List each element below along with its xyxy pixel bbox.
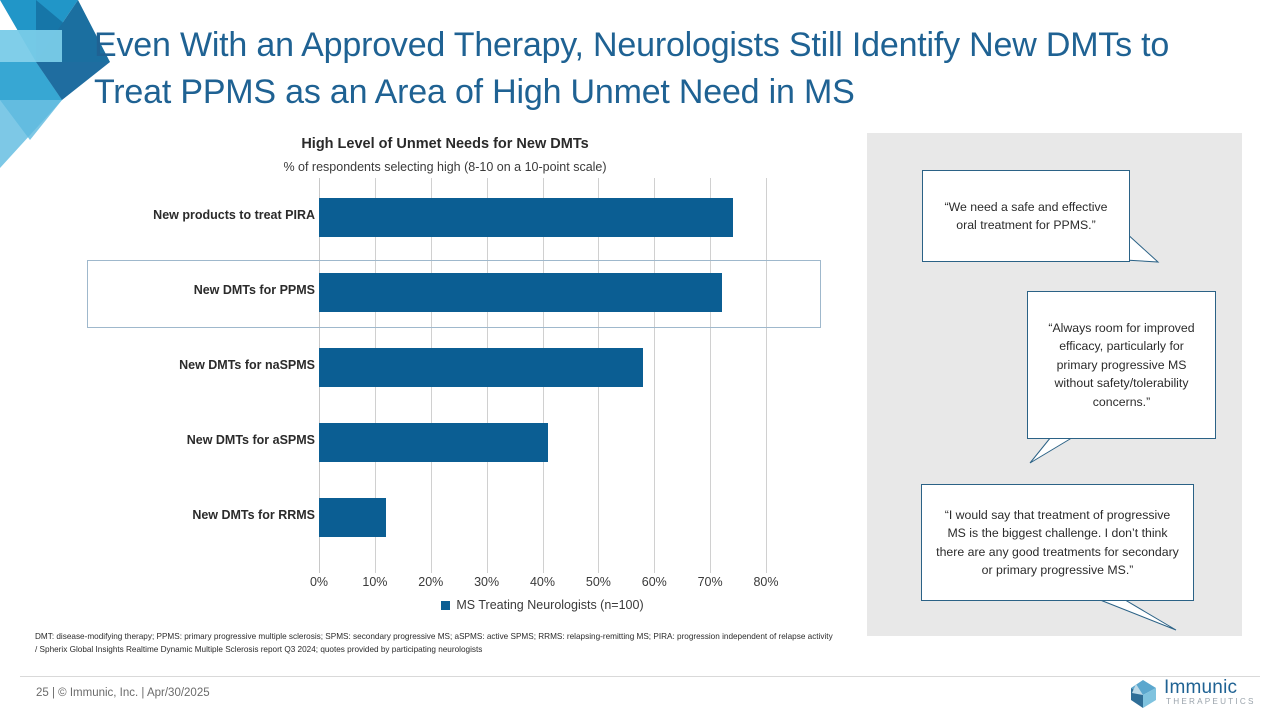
bar-row: New DMTs for RRMS (319, 478, 766, 557)
xtick-label: 40% (530, 575, 555, 589)
xtick-label: 0% (310, 575, 328, 589)
bar-pira[interactable] (319, 198, 733, 237)
quote-callout-2: “Always room for improved efficacy, part… (1027, 291, 1216, 439)
gridline-80 (766, 178, 767, 573)
logo-wordmark: Immunic (1164, 677, 1237, 699)
quote-text: “We need a safe and effective oral treat… (923, 171, 1129, 261)
highlight-box-ppms (87, 260, 821, 328)
quote-callout-1: “We need a safe and effective oral treat… (922, 170, 1130, 262)
x-axis-ticks: 0% 10% 20% 30% 40% 50% 60% 70% 80% (319, 575, 766, 595)
legend-label: MS Treating Neurologists (n=100) (456, 598, 643, 612)
bar-rrms[interactable] (319, 498, 386, 537)
logo-tagline: THERAPEUTICS (1166, 697, 1256, 706)
slide: Even With an Approved Therapy, Neurologi… (0, 0, 1280, 720)
bar-chart: High Level of Unmet Needs for New DMTs %… (30, 128, 860, 618)
xtick-label: 50% (586, 575, 611, 589)
category-label: New DMTs for RRMS (75, 508, 315, 522)
immunic-logo-icon (1128, 679, 1158, 709)
footnote: DMT: disease-modifying therapy; PPMS: pr… (35, 630, 835, 656)
immunic-logo: Immunic THERAPEUTICS (1128, 679, 1253, 711)
bar-row: New products to treat PIRA (319, 178, 766, 257)
xtick-label: 20% (418, 575, 443, 589)
chart-plot-area: New products to treat PIRA New DMTs for … (319, 178, 766, 573)
xtick-label: 70% (698, 575, 723, 589)
bar-row: New DMTs for naSPMS (319, 328, 766, 407)
xtick-label: 10% (362, 575, 387, 589)
page-title: Even With an Approved Therapy, Neurologi… (94, 22, 1204, 116)
bar-aspms[interactable] (319, 423, 548, 462)
quote-text: “Always room for improved efficacy, part… (1028, 292, 1215, 438)
bar-row: New DMTs for aSPMS (319, 403, 766, 482)
chart-legend: MS Treating Neurologists (n=100) (319, 598, 766, 612)
legend-swatch-icon (441, 601, 450, 610)
chart-title: High Level of Unmet Needs for New DMTs (30, 136, 860, 152)
category-label: New products to treat PIRA (75, 208, 315, 222)
chart-subtitle: % of respondents selecting high (8-10 on… (30, 160, 860, 174)
xtick-label: 80% (753, 575, 778, 589)
footer-text: 25 | © Immunic, Inc. | Apr/30/2025 (36, 687, 210, 699)
category-label: New DMTs for aSPMS (75, 433, 315, 447)
xtick-label: 60% (642, 575, 667, 589)
quote-text: “I would say that treatment of progressi… (922, 485, 1193, 600)
footer-divider (20, 676, 1260, 677)
xtick-label: 30% (474, 575, 499, 589)
bar-naspms[interactable] (319, 348, 643, 387)
category-label: New DMTs for naSPMS (75, 358, 315, 372)
quote-callout-3: “I would say that treatment of progressi… (921, 484, 1194, 601)
